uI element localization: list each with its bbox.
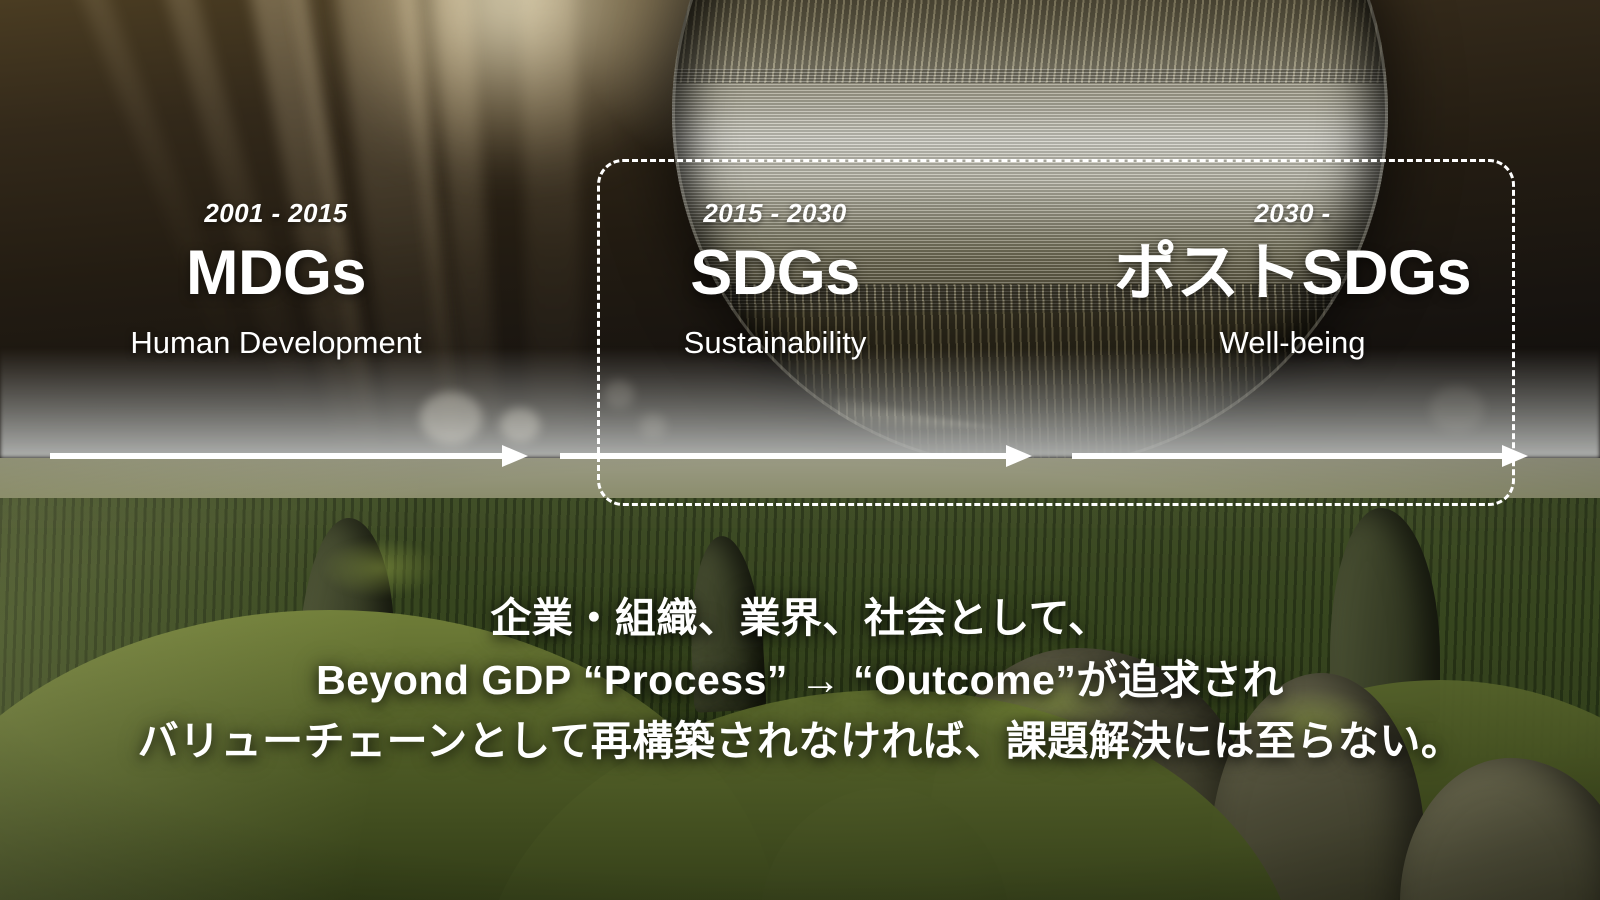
- timeline-period: 2001 - 2015: [45, 200, 507, 226]
- timeline-period: 2015 - 2030: [560, 200, 990, 226]
- arrow-right-icon: [50, 450, 528, 462]
- timeline-title: SDGs: [560, 240, 990, 306]
- slide-root: 2001 - 2015 MDGs Human Development 2015 …: [0, 0, 1600, 900]
- timeline-subtitle: Well-being: [1060, 326, 1525, 360]
- caption-block: 企業・組織、業界、社会として、 Beyond GDP “Process” → “…: [0, 588, 1600, 773]
- timeline-period: 2030 -: [1060, 200, 1525, 226]
- timeline-subtitle: Sustainability: [560, 326, 990, 360]
- timeline-title: ポストSDGs: [1060, 240, 1525, 306]
- arrow-right-icon: [1072, 450, 1528, 462]
- arrow-head: [1006, 445, 1032, 467]
- arrow-head: [1502, 445, 1528, 467]
- arrow-shaft: [50, 453, 502, 459]
- timeline-subtitle: Human Development: [45, 326, 507, 360]
- caption-line-3: バリューチェーンとして再構築されなければ、課題解決には至らない。: [0, 711, 1600, 773]
- timeline-column-post-sdgs: 2030 - ポストSDGs Well-being: [1060, 200, 1525, 360]
- arrow-head: [502, 445, 528, 467]
- arrow-shaft: [1072, 453, 1502, 459]
- caption-line-1: 企業・組織、業界、社会として、: [0, 588, 1600, 650]
- content-layer: 2001 - 2015 MDGs Human Development 2015 …: [0, 0, 1600, 900]
- timeline-title: MDGs: [45, 240, 507, 306]
- arrow-right-icon: [560, 450, 1032, 462]
- arrow-shaft: [560, 453, 1006, 459]
- timeline-column-sdgs: 2015 - 2030 SDGs Sustainability: [560, 200, 990, 360]
- caption-line-2: Beyond GDP “Process” → “Outcome”が追求され: [0, 650, 1600, 712]
- timeline-column-mdgs: 2001 - 2015 MDGs Human Development: [45, 200, 507, 360]
